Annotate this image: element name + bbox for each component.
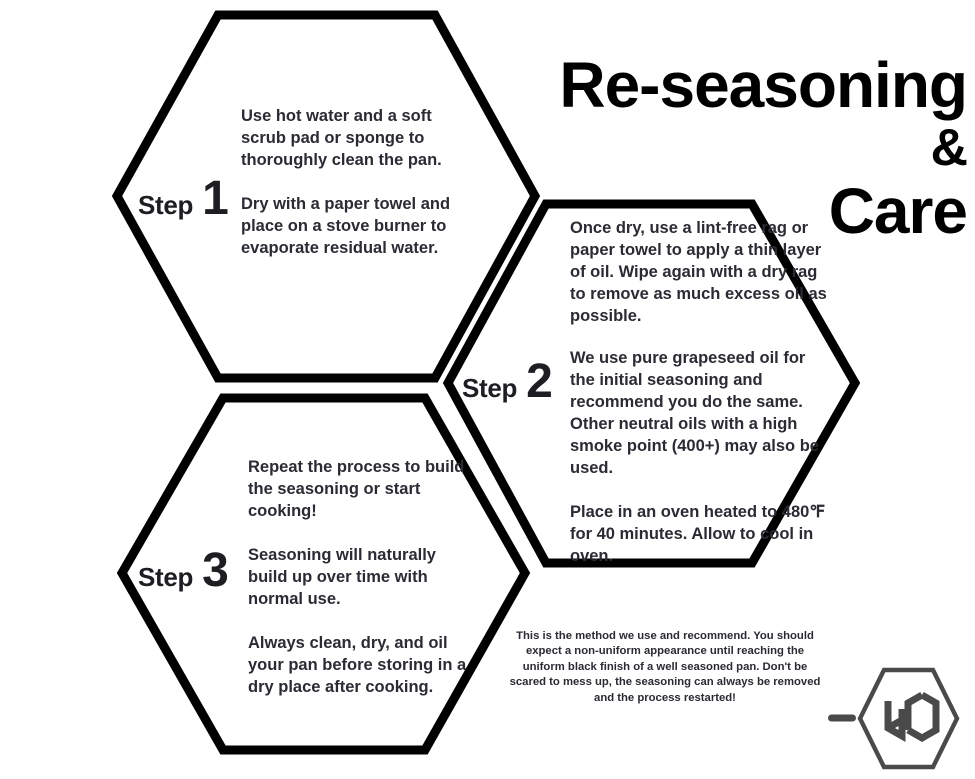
step-2-paragraph-1: Once dry, use a lint-free rag or paper t… [570, 217, 832, 327]
hexagon-pan-monogram-logo-icon [826, 660, 971, 778]
step-2-paragraph-2: We use pure grapeseed oil for the initia… [570, 347, 832, 479]
step-3-paragraph-2: Seasoning will naturally build up over t… [248, 544, 470, 610]
step-3-word: Step [138, 562, 193, 593]
step-2-body: Once dry, use a lint-free rag or paper t… [570, 217, 832, 567]
step-1-number: 1 [202, 180, 228, 218]
step-1-paragraph-1: Use hot water and a soft scrub pad or sp… [241, 105, 473, 171]
step-1-word: Step [138, 190, 193, 221]
step-1-label: Step 1 [138, 180, 228, 221]
step-3-paragraph-1: Repeat the process to build the seasonin… [248, 456, 470, 522]
step-3-cluster: Step 3 Repeat the process to build the s… [0, 380, 545, 779]
step-1-paragraph-2: Dry with a paper towel and place on a st… [241, 193, 473, 259]
step-3-label: Step 3 [138, 552, 228, 593]
step-1-body: Use hot water and a soft scrub pad or sp… [241, 105, 473, 259]
step-2-paragraph-3: Place in an oven heated to 480℉ for 40 m… [570, 501, 832, 567]
step-3-number: 3 [202, 552, 228, 590]
footer-note: This is the method we use and recommend.… [505, 629, 825, 706]
step-3-body: Repeat the process to build the seasonin… [248, 456, 470, 698]
infographic-poster: Re-seasoning & Care Step 1 Use hot water… [0, 0, 975, 779]
step-3-paragraph-3: Always clean, dry, and oil your pan befo… [248, 632, 470, 698]
